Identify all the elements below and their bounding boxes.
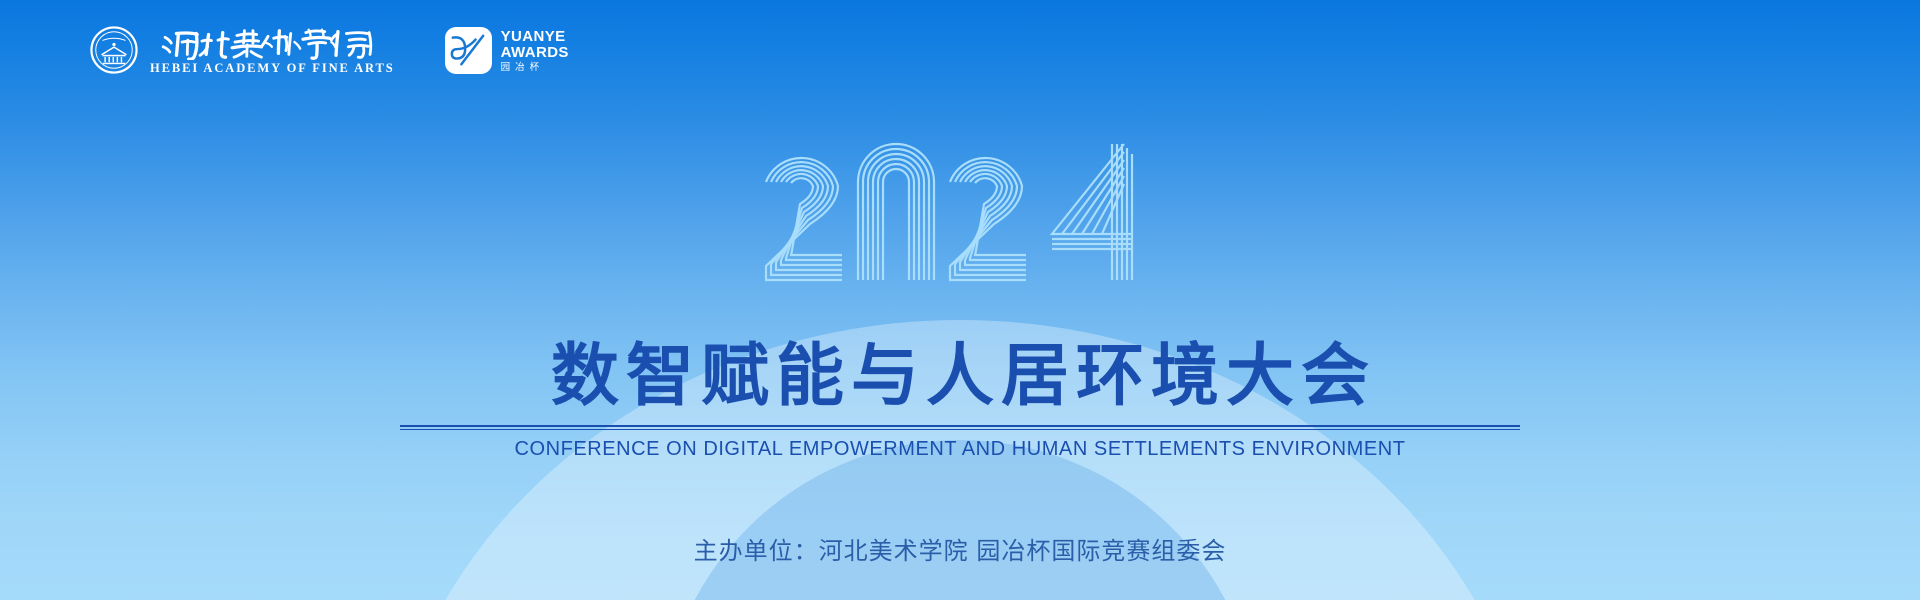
yuanye-line1: YUANYE	[501, 29, 569, 44]
conference-title-en: CONFERENCE ON DIGITAL EMPOWERMENT AND HU…	[400, 437, 1520, 461]
yuanye-line2: AWARDS	[501, 45, 569, 60]
yuanye-awards-logo[interactable]: YUANYE AWARDS 园冶杯	[445, 27, 569, 74]
hero-title-block: 数智赋能与人居环境大会 CONFERENCE ON DIGITAL EMPOWE…	[400, 340, 1520, 461]
conference-banner: HEBEI ACADEMY OF FINE ARTS YUANYE AWARDS…	[0, 0, 1920, 600]
organizer-line: 主办单位：河北美术学院 园冶杯国际竞赛组委会	[694, 531, 1227, 566]
yuanye-leaf-mark	[445, 27, 492, 74]
yuanye-name-cn: 园冶杯	[501, 63, 569, 73]
yuanye-awards-text: YUANYE AWARDS 园冶杯	[501, 29, 569, 73]
year-2024-graphic	[760, 138, 1160, 286]
hebei-academy-name-cn-calligraphy	[150, 26, 395, 60]
hebei-academy-name: HEBEI ACADEMY OF FINE ARTS	[150, 26, 395, 75]
title-divider-rule	[400, 425, 1520, 430]
hebei-academy-logo[interactable]: HEBEI ACADEMY OF FINE ARTS	[90, 26, 395, 75]
background-dome-inner	[660, 440, 1260, 600]
year-2024-svg	[760, 138, 1160, 286]
hebei-academy-seal	[90, 26, 138, 74]
logo-bar: HEBEI ACADEMY OF FINE ARTS YUANYE AWARDS…	[90, 26, 569, 75]
hebei-academy-name-en: HEBEI ACADEMY OF FINE ARTS	[150, 62, 395, 75]
conference-title-cn: 数智赋能与人居环境大会	[400, 340, 1520, 413]
yuanye-leaf-icon	[449, 31, 487, 69]
